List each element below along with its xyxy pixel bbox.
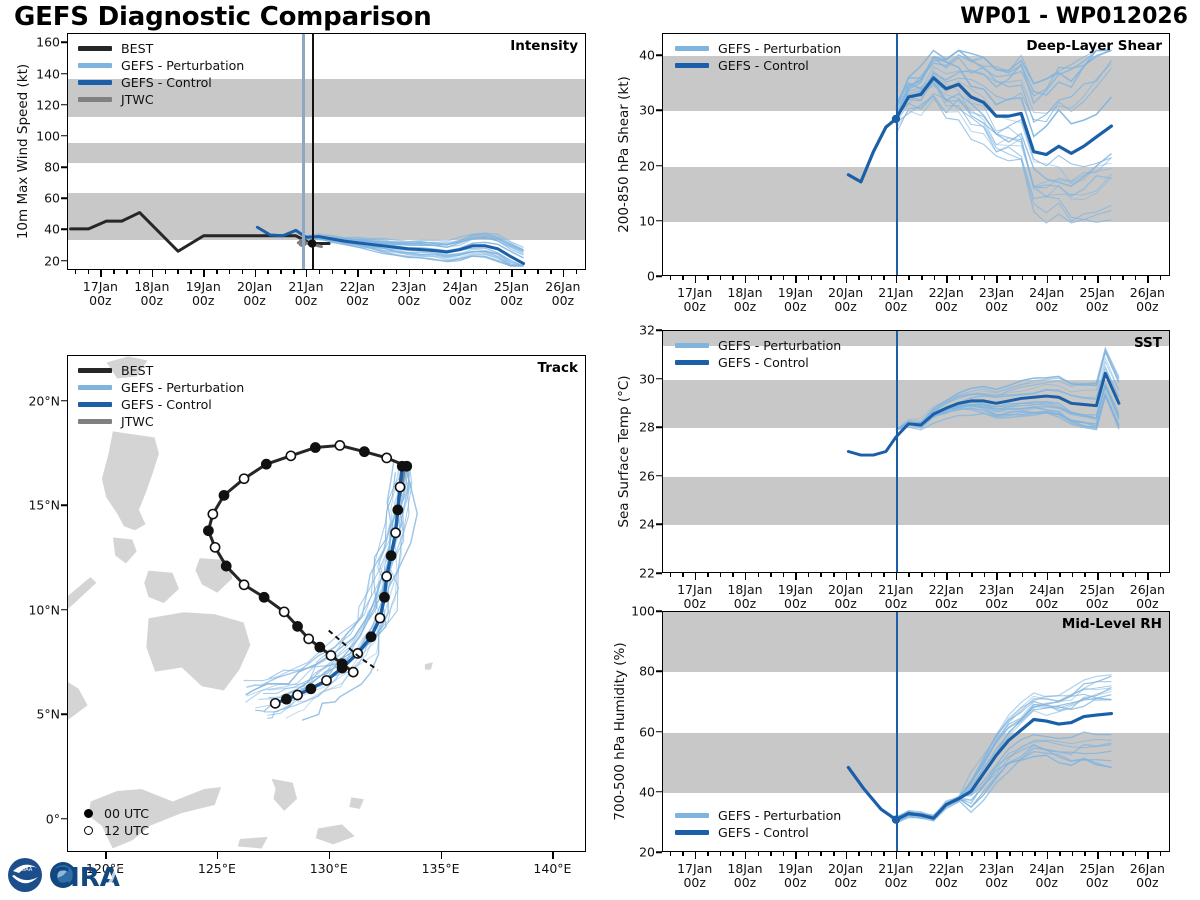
x-tick-minor: [971, 276, 973, 280]
x-tick-minor: [720, 276, 722, 280]
x-tick-minor: [576, 270, 578, 274]
x-tick-major: [100, 270, 102, 277]
x-tick-minor: [682, 852, 684, 856]
legend-label: JTWC: [121, 414, 154, 429]
perturbation-member: [896, 99, 1111, 186]
x-tick-major: [1047, 852, 1049, 859]
x-tick-label: 18Jan00z: [727, 286, 762, 315]
x-tick-label: 23Jan00z: [979, 286, 1014, 315]
lon-tick-mark: [552, 852, 554, 859]
x-tick-minor: [921, 852, 923, 856]
x-tick-label: 22Jan00z: [340, 280, 375, 309]
x-tick-minor: [808, 573, 810, 577]
legend-row: GEFS - Perturbation: [78, 379, 244, 396]
y-tick-mark: [656, 165, 662, 167]
legend-label: BEST: [121, 363, 153, 378]
x-tick-minor: [670, 276, 672, 280]
x-tick-minor: [1160, 573, 1162, 577]
track-point-12utc: [304, 634, 313, 643]
x-tick-major: [255, 270, 257, 277]
track-point-00utc: [293, 622, 302, 631]
x-tick-minor: [707, 276, 709, 280]
x-tick-label: 20Jan00z: [828, 286, 863, 315]
analysis-vline: [896, 612, 898, 851]
x-tick-minor: [422, 270, 424, 274]
svg-text:NOAA: NOAA: [18, 867, 33, 873]
sst-legend: GEFS - PerturbationGEFS - Control: [675, 337, 841, 371]
y-tick-mark: [656, 220, 662, 222]
legend-row: GEFS - Control: [78, 396, 244, 413]
x-tick-label: 17Jan00z: [677, 862, 712, 891]
x-tick-minor: [88, 270, 90, 274]
x-tick-minor: [833, 276, 835, 280]
x-tick-major: [996, 276, 998, 283]
legend-swatch: [78, 385, 112, 390]
x-tick-minor: [1034, 573, 1036, 577]
rh-plot-area: Mid-Level RH GEFS - PerturbationGEFS - C…: [662, 611, 1170, 852]
legend-label: GEFS - Perturbation: [718, 808, 841, 823]
x-tick-minor: [242, 270, 244, 274]
track-point-00utc: [387, 551, 396, 560]
x-tick-minor: [550, 270, 552, 274]
x-tick-label: 24Jan00z: [1029, 286, 1064, 315]
x-tick-minor: [332, 270, 334, 274]
legend-label: GEFS - Perturbation: [121, 58, 244, 73]
legend-row: GEFS - Perturbation: [78, 57, 244, 74]
track-map-svg: [68, 356, 585, 851]
perturbation-member: [896, 752, 1111, 820]
x-tick-label: 24Jan00z: [1029, 583, 1064, 612]
y-tick-mark: [656, 671, 662, 673]
x-tick-minor: [871, 573, 873, 577]
panel-rh: Mid-Level RH GEFS - PerturbationGEFS - C…: [662, 611, 1170, 852]
track-point-12utc: [395, 482, 404, 491]
x-tick-minor: [1160, 852, 1162, 856]
y-tick-mark: [656, 110, 662, 112]
x-tick-major: [1097, 852, 1099, 859]
legend-label: GEFS - Control: [121, 75, 212, 90]
rh-y-label: 700-500 hPa Humidity (%): [612, 611, 628, 852]
x-tick-minor: [1110, 276, 1112, 280]
x-tick-minor: [216, 270, 218, 274]
x-tick-label: 25Jan00z: [1079, 286, 1114, 315]
x-tick-major: [1147, 276, 1149, 283]
x-tick-minor: [921, 276, 923, 280]
y-tick-mark: [656, 731, 662, 733]
legend-swatch: [78, 368, 112, 373]
x-tick-minor: [883, 852, 885, 856]
x-tick-major: [946, 276, 948, 283]
track-point-12utc: [326, 651, 335, 660]
lon-tick-label: 125°E: [198, 862, 236, 876]
x-tick-major: [357, 270, 359, 277]
coastline-polygon: [67, 577, 97, 625]
x-tick-minor: [1084, 276, 1086, 280]
x-tick-minor: [934, 573, 936, 577]
x-tick-major: [946, 573, 948, 580]
analysis-vline: [896, 331, 898, 572]
x-tick-minor: [1059, 852, 1061, 856]
x-tick-minor: [280, 270, 282, 274]
legend-row: JTWC: [78, 91, 244, 108]
coastline-polygon: [101, 431, 159, 531]
lon-tick-mark: [441, 852, 443, 859]
legend-row: GEFS - Perturbation: [675, 40, 841, 57]
track-legend: BESTGEFS - PerturbationGEFS - ControlJTW…: [78, 362, 244, 430]
sst-title: SST: [1134, 335, 1162, 351]
x-tick-minor: [1009, 276, 1011, 280]
x-tick-label: 17Jan00z: [83, 280, 118, 309]
x-tick-minor: [858, 276, 860, 280]
y-tick-mark: [656, 524, 662, 526]
x-tick-minor: [1034, 276, 1036, 280]
x-tick-minor: [682, 573, 684, 577]
x-tick-label: 21Jan00z: [878, 583, 913, 612]
track-point-00utc: [219, 491, 228, 500]
x-tick-major: [846, 573, 848, 580]
intensity-title: Intensity: [510, 38, 578, 54]
x-tick-label: 18Jan00z: [727, 862, 762, 891]
perturbation-member: [896, 81, 1111, 183]
x-tick-minor: [732, 852, 734, 856]
x-tick-label: 24Jan00z: [443, 280, 478, 309]
coastline-polygon: [315, 824, 355, 845]
legend-swatch: [675, 830, 709, 835]
x-tick-minor: [267, 270, 269, 274]
x-tick-minor: [293, 270, 295, 274]
x-tick-label: 23Jan00z: [391, 280, 426, 309]
track-point-12utc: [280, 607, 289, 616]
legend-row: GEFS - Control: [675, 824, 841, 841]
legend-swatch: [78, 419, 112, 424]
legend-swatch: [675, 813, 709, 818]
x-tick-minor: [1110, 852, 1112, 856]
lat-tick-mark: [61, 713, 67, 715]
marker-legend-label: 12 UTC: [104, 823, 149, 838]
track-point-12utc: [349, 668, 358, 677]
track-point-00utc: [311, 443, 320, 452]
legend-label: GEFS - Control: [718, 355, 809, 370]
x-tick-minor: [908, 276, 910, 280]
x-tick-minor: [820, 573, 822, 577]
x-tick-major: [795, 573, 797, 580]
y-tick-mark: [61, 42, 67, 44]
x-tick-minor: [473, 270, 475, 274]
analysis-vline: [312, 34, 314, 269]
x-tick-minor: [370, 270, 372, 274]
y-tick-mark: [656, 475, 662, 477]
legend-row: BEST: [78, 362, 244, 379]
perturbation-member: [896, 698, 1111, 818]
x-tick-major: [695, 573, 697, 580]
x-tick-label: 26Jan00z: [1130, 862, 1165, 891]
x-tick-major: [946, 852, 948, 859]
coastline-polygon: [271, 778, 298, 811]
y-tick-mark: [656, 378, 662, 380]
coastline-polygon: [67, 672, 88, 784]
track-point-12utc: [375, 613, 384, 622]
x-tick-minor: [921, 573, 923, 577]
lat-tick-mark: [61, 505, 67, 507]
track-plot-area: Track BESTGEFS - PerturbationGEFS - Cont…: [67, 355, 586, 852]
track-point-12utc: [239, 474, 248, 483]
x-tick-minor: [783, 276, 785, 280]
x-tick-minor: [984, 852, 986, 856]
x-tick-minor: [783, 852, 785, 856]
track-title: Track: [538, 360, 578, 376]
legend-label: GEFS - Perturbation: [121, 380, 244, 395]
x-tick-major: [409, 270, 411, 277]
x-tick-label: 24Jan00z: [1029, 862, 1064, 891]
x-tick-minor: [139, 270, 141, 274]
legend-swatch: [78, 97, 112, 102]
x-tick-label: 26Jan00z: [545, 280, 580, 309]
x-tick-minor: [858, 852, 860, 856]
x-tick-minor: [319, 270, 321, 274]
x-tick-major: [896, 852, 898, 859]
legend-swatch: [675, 46, 709, 51]
x-tick-minor: [75, 270, 77, 274]
track-point-12utc: [239, 580, 248, 589]
y-tick-mark: [656, 329, 662, 331]
x-tick-label: 19Jan00z: [186, 280, 221, 309]
x-tick-minor: [1084, 573, 1086, 577]
x-tick-minor: [820, 276, 822, 280]
x-tick-minor: [732, 276, 734, 280]
legend-label: GEFS - Control: [718, 58, 809, 73]
x-tick-minor: [758, 852, 760, 856]
noaa-cira-logo: NOAA CIRA: [6, 854, 132, 896]
panel-intensity: Intensity BESTGEFS - PerturbationGEFS - …: [67, 33, 586, 270]
track-point-12utc: [293, 690, 302, 699]
x-tick-label: 17Jan00z: [677, 583, 712, 612]
intensity-legend: BESTGEFS - PerturbationGEFS - ControlJTW…: [78, 40, 244, 108]
x-tick-minor: [1034, 852, 1036, 856]
x-tick-minor: [1135, 573, 1137, 577]
x-tick-label: 21Jan00z: [878, 862, 913, 891]
y-tick-mark: [61, 73, 67, 75]
x-tick-minor: [770, 573, 772, 577]
legend-swatch: [78, 46, 112, 51]
x-tick-minor: [720, 852, 722, 856]
x-tick-major: [1147, 573, 1149, 580]
x-tick-label: 21Jan00z: [878, 286, 913, 315]
y-tick-mark: [656, 791, 662, 793]
legend-swatch: [675, 63, 709, 68]
x-tick-minor: [770, 276, 772, 280]
perturbation-member: [896, 682, 1111, 823]
x-tick-minor: [1135, 852, 1137, 856]
lon-tick-mark: [329, 852, 331, 859]
marker-legend-row: 00 UTC: [80, 805, 149, 822]
x-tick-major: [460, 270, 462, 277]
track-point-00utc: [393, 505, 402, 514]
x-tick-major: [745, 852, 747, 859]
perturbation-track: [246, 460, 394, 687]
track-point-12utc: [382, 572, 391, 581]
track-point-00utc: [360, 447, 369, 456]
x-tick-label: 23Jan00z: [979, 583, 1014, 612]
x-tick-major: [745, 276, 747, 283]
rh-title: Mid-Level RH: [1062, 616, 1162, 632]
legend-swatch: [675, 343, 709, 348]
legend-swatch: [675, 360, 709, 365]
perturbation-member: [896, 86, 1111, 199]
y-tick-mark: [61, 104, 67, 106]
legend-label: GEFS - Perturbation: [718, 41, 841, 56]
y-tick-mark: [61, 135, 67, 137]
x-tick-minor: [971, 573, 973, 577]
track-point-12utc: [382, 453, 391, 462]
x-tick-label: 18Jan00z: [727, 583, 762, 612]
x-tick-label: 25Jan00z: [1079, 583, 1114, 612]
shear-title: Deep-Layer Shear: [1026, 38, 1162, 54]
x-tick-minor: [383, 270, 385, 274]
track-point-12utc: [322, 676, 331, 685]
lon-tick-label: 140°E: [533, 862, 571, 876]
noaa-seal-icon: NOAA: [8, 858, 42, 892]
coastline-polygon: [144, 570, 180, 603]
perturbation-member: [896, 50, 1111, 106]
x-tick-minor: [670, 852, 672, 856]
x-tick-major: [1047, 573, 1049, 580]
x-tick-minor: [707, 573, 709, 577]
analysis-vline: [896, 34, 898, 275]
coastline-polygon: [237, 836, 268, 848]
x-tick-minor: [758, 276, 760, 280]
legend-row: BEST: [78, 40, 244, 57]
x-tick-major: [896, 276, 898, 283]
x-tick-minor: [486, 270, 488, 274]
track-point-00utc: [380, 593, 389, 602]
y-tick-mark: [61, 229, 67, 231]
x-tick-minor: [177, 270, 179, 274]
legend-row: GEFS - Control: [78, 74, 244, 91]
track-point-12utc: [335, 441, 344, 450]
legend-swatch: [78, 80, 112, 85]
x-tick-label: 20Jan00z: [237, 280, 272, 309]
track-point-00utc: [282, 695, 291, 704]
x-tick-minor: [1009, 573, 1011, 577]
x-tick-label: 20Jan00z: [828, 583, 863, 612]
x-tick-label: 25Jan00z: [494, 280, 529, 309]
x-tick-minor: [1059, 276, 1061, 280]
x-tick-minor: [1022, 276, 1024, 280]
x-tick-major: [1097, 276, 1099, 283]
x-tick-minor: [783, 573, 785, 577]
x-tick-minor: [165, 270, 167, 274]
x-tick-major: [1147, 852, 1149, 859]
track-point-00utc: [366, 632, 375, 641]
x-tick-minor: [833, 573, 835, 577]
legend-row: GEFS - Perturbation: [675, 337, 841, 354]
y-tick-mark: [656, 426, 662, 428]
y-tick-mark: [656, 610, 662, 612]
x-tick-minor: [770, 852, 772, 856]
x-tick-label: 19Jan00z: [778, 583, 813, 612]
x-tick-minor: [758, 573, 760, 577]
x-tick-minor: [344, 270, 346, 274]
x-tick-major: [896, 573, 898, 580]
x-tick-minor: [959, 573, 961, 577]
x-tick-minor: [1022, 852, 1024, 856]
panel-sst: SST GEFS - PerturbationGEFS - Control 22…: [662, 330, 1170, 573]
panel-track: Track BESTGEFS - PerturbationGEFS - Cont…: [67, 355, 586, 852]
intensity-plot-area: Intensity BESTGEFS - PerturbationGEFS - …: [67, 33, 586, 270]
x-tick-minor: [1009, 852, 1011, 856]
sst-plot-area: SST GEFS - PerturbationGEFS - Control: [662, 330, 1170, 573]
legend-row: JTWC: [78, 413, 244, 430]
dashboard-root: GEFS Diagnostic Comparison WP01 - WP0120…: [0, 0, 1200, 900]
x-tick-label: 17Jan00z: [677, 286, 712, 315]
lat-tick-mark: [61, 400, 67, 402]
x-tick-label: 21Jan00z: [288, 280, 323, 309]
track-point-12utc: [208, 509, 217, 518]
legend-row: GEFS - Control: [675, 354, 841, 371]
x-tick-minor: [229, 270, 231, 274]
lat-tick-mark: [61, 818, 67, 820]
legend-swatch: [78, 402, 112, 407]
rh-legend: GEFS - PerturbationGEFS - Control: [675, 807, 841, 841]
x-tick-minor: [707, 852, 709, 856]
x-tick-label: 18Jan00z: [134, 280, 169, 309]
x-tick-minor: [113, 270, 115, 274]
perturbation-member: [896, 740, 1111, 819]
marker-legend-row: 12 UTC: [80, 822, 149, 839]
x-tick-minor: [883, 276, 885, 280]
track-point-12utc: [391, 528, 400, 537]
x-tick-minor: [959, 852, 961, 856]
x-tick-minor: [447, 270, 449, 274]
y-tick-mark: [656, 54, 662, 56]
x-tick-major: [996, 573, 998, 580]
coastline-polygon: [146, 612, 251, 691]
x-tick-major: [1047, 276, 1049, 283]
x-tick-major: [846, 852, 848, 859]
coastline-polygon: [349, 797, 365, 809]
perturbation-member: [896, 699, 1111, 818]
shear-y-label: 200-850 hPa Shear (kt): [616, 33, 632, 276]
x-tick-major: [695, 276, 697, 283]
legend-row: GEFS - Control: [675, 57, 841, 74]
x-tick-minor: [1122, 276, 1124, 280]
x-tick-label: 26Jan00z: [1130, 583, 1165, 612]
marker-dot-open: [84, 826, 93, 835]
x-tick-major: [846, 276, 848, 283]
x-tick-major: [996, 852, 998, 859]
x-tick-label: 22Jan00z: [929, 583, 964, 612]
x-tick-minor: [808, 852, 810, 856]
coastline-polygon: [425, 662, 434, 670]
x-tick-minor: [1135, 276, 1137, 280]
x-tick-major: [795, 276, 797, 283]
perturbation-member: [896, 50, 1111, 106]
x-tick-minor: [871, 852, 873, 856]
x-tick-minor: [1122, 852, 1124, 856]
panel-shear: Deep-Layer Shear GEFS - PerturbationGEFS…: [662, 33, 1170, 276]
track-point-00utc: [204, 526, 213, 535]
x-tick-minor: [1160, 276, 1162, 280]
x-tick-major: [795, 852, 797, 859]
x-tick-minor: [1022, 573, 1024, 577]
track-point-00utc: [222, 561, 231, 570]
lon-tick-label: 130°E: [310, 862, 348, 876]
x-tick-minor: [732, 573, 734, 577]
track-point-00utc: [260, 593, 269, 602]
lat-tick-mark: [61, 609, 67, 611]
x-tick-label: 20Jan00z: [828, 862, 863, 891]
coastline-polygon: [113, 537, 138, 564]
